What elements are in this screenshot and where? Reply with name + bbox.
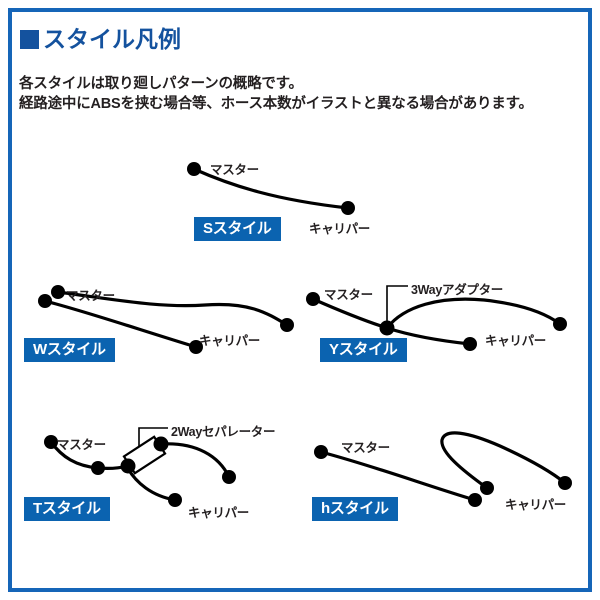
y-style-caliper-node-lower: [463, 337, 477, 351]
w-style-badge: Wスタイル: [24, 338, 115, 362]
y-style-badge: Yスタイル: [320, 338, 407, 362]
s-style-label-master: マスター: [210, 159, 259, 178]
s-style-master-node: [187, 162, 201, 176]
y-style-label-adapter: 3Wayアダプター: [411, 279, 503, 298]
w-style-label-caliper: キャリパー: [199, 330, 260, 349]
s-style-caliper-node: [341, 201, 355, 215]
y-style-master-node: [306, 292, 320, 306]
style-legend-page: スタイル凡例 各スタイルは取り廻しパターンの概略です。 経路途中にABSを挟む場…: [0, 0, 600, 600]
t-style-separator-node-left: [121, 459, 136, 474]
h-style-caliper-node-right: [558, 476, 572, 490]
t-style-label-separator: 2Wayセパレーター: [171, 421, 275, 440]
h-style-loop-hose: [442, 433, 565, 488]
h-style-label-master: マスター: [341, 437, 390, 456]
y-style-caliper-node-right: [553, 317, 567, 331]
h-style-caliper-node-mid: [480, 481, 494, 495]
t-style-caliper-node-right: [222, 470, 236, 484]
t-style-label-master: マスター: [57, 434, 106, 453]
s-style-badge: Sスタイル: [194, 217, 281, 241]
h-style-caliper-node-lower: [468, 493, 482, 507]
t-style-junction-node: [91, 461, 105, 475]
y-style-label-master: マスター: [324, 284, 373, 303]
w-style-caliper-node-right: [280, 318, 294, 332]
y-style-adapter-node: [380, 321, 395, 336]
t-style-caliper-node-lower: [168, 493, 182, 507]
t-style-separator-to-right-caliper-hose: [161, 444, 229, 477]
t-style-separator-node-right: [154, 437, 169, 452]
t-style-badge: Tスタイル: [24, 497, 110, 521]
h-style-master-node: [314, 445, 328, 459]
t-style-master-node: [44, 435, 58, 449]
w-style-label-master: マスター: [66, 285, 115, 304]
w-style-master-node-lower: [38, 294, 52, 308]
w-style-master-node-upper: [51, 285, 65, 299]
s-style-label-caliper: キャリパー: [309, 218, 370, 237]
y-style-label-caliper: キャリパー: [485, 330, 546, 349]
y-style-adapter-to-right-caliper-hose: [387, 299, 560, 328]
y-style-master-to-adapter-hose: [313, 299, 387, 328]
t-style-label-caliper: キャリパー: [188, 502, 249, 521]
h-style-badge: hスタイル: [312, 497, 398, 521]
h-style-label-caliper: キャリパー: [505, 494, 566, 513]
